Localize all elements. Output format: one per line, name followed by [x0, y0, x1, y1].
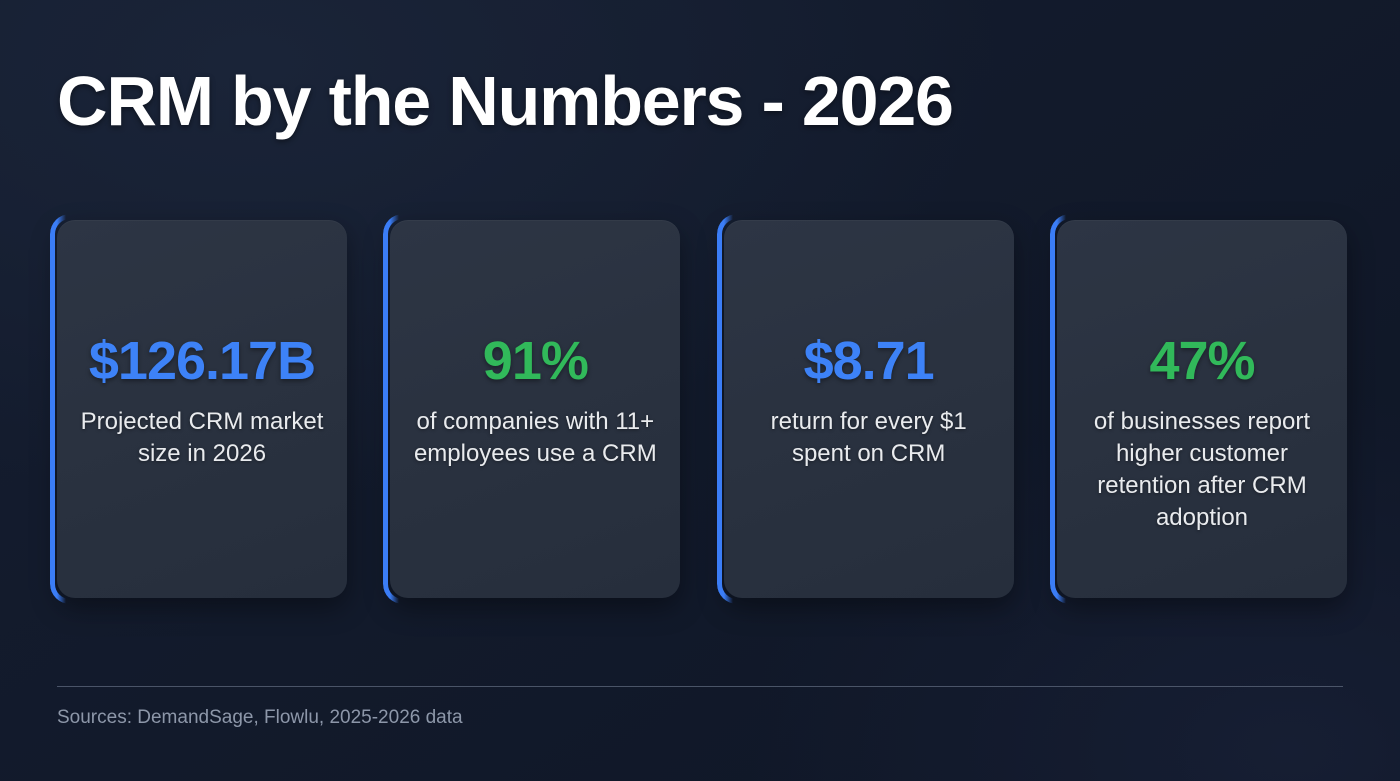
- footer-divider: [57, 686, 1343, 687]
- stat-card: $8.71 return for every $1 spent on CRM: [724, 220, 1014, 598]
- footer: Sources: DemandSage, Flowlu, 2025-2026 d…: [57, 686, 1343, 730]
- stat-label: return for every $1 spent on CRM: [744, 406, 994, 470]
- stat-card: 91% of companies with 11+ employees use …: [390, 220, 680, 598]
- stat-value: $8.71: [804, 332, 934, 390]
- accent-bar-icon: [1050, 214, 1076, 604]
- stat-value: 47%: [1149, 332, 1254, 390]
- stat-value: $126.17B: [89, 332, 315, 390]
- stat-value: 91%: [483, 332, 588, 390]
- stat-label: of companies with 11+ employees use a CR…: [410, 406, 660, 470]
- stat-card: 47% of businesses report higher customer…: [1057, 220, 1347, 598]
- stat-card-row: $126.17B Projected CRM market size in 20…: [57, 220, 1347, 598]
- page-title: CRM by the Numbers - 2026: [57, 62, 1347, 140]
- sources-text: Sources: DemandSage, Flowlu, 2025-2026 d…: [57, 687, 1343, 730]
- accent-bar-icon: [383, 214, 409, 604]
- stat-card: $126.17B Projected CRM market size in 20…: [57, 220, 347, 598]
- infographic-slide: CRM by the Numbers - 2026 $126.17B Proje…: [0, 0, 1400, 781]
- accent-bar-icon: [50, 214, 76, 604]
- stat-label: Projected CRM market size in 2026: [77, 406, 327, 470]
- accent-bar-icon: [717, 214, 743, 604]
- stat-label: of businesses report higher customer ret…: [1077, 406, 1327, 534]
